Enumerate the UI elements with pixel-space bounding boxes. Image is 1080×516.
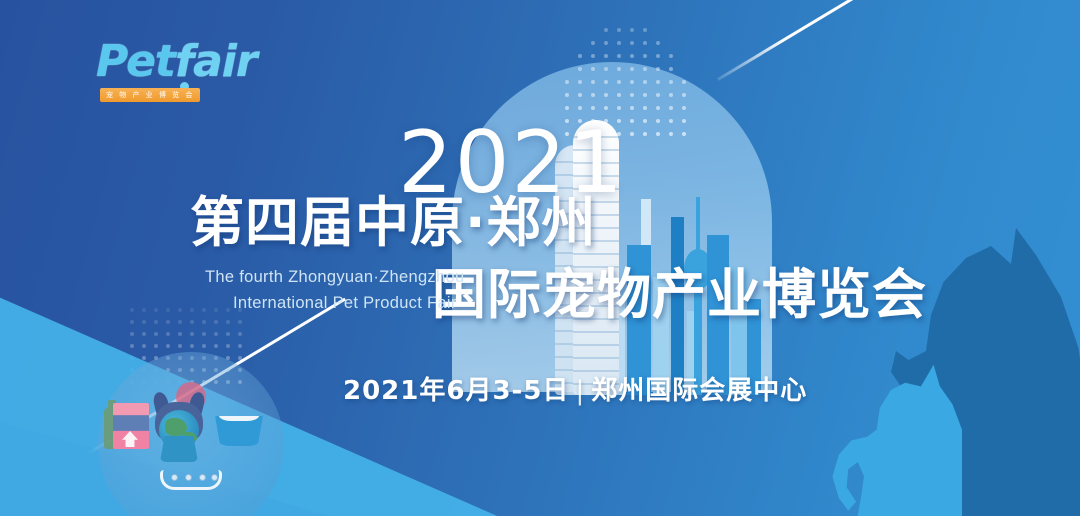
logo-word-fair: fair [175,36,257,87]
pet-collar-icon [160,470,222,490]
logo-word-pet: Pet [96,36,175,87]
logo-badge: 宠 物 产 业 博 览 会 [100,88,200,102]
event-venue: 郑州国际会展中心 [591,376,807,406]
pet-food-box-icon [113,403,149,449]
title-cn-line1: 第四届中原·郑州 [190,196,597,250]
separator: | [569,376,591,406]
pet-food-bowl-icon [213,416,265,446]
title-cn-line2: 国际宠物产业博览会 [432,268,927,322]
logo-wordmark: Petfair [96,36,257,87]
pet-globe-face-icon [148,392,210,460]
subtitle-en-line2: International Pet Product Fair [205,290,464,316]
pet-fair-logo[interactable]: Petfair 宠 物 产 业 博 览 会 [96,36,271,108]
event-date: 2021年6月3-5日 [343,376,569,406]
date-venue-line: 2021年6月3-5日|郑州国际会展中心 [343,370,807,407]
event-banner: Petfair 宠 物 产 业 博 览 会 2021 第四届中原·郑州 国际宠物… [0,0,1080,516]
diagonal-line-upper [717,0,864,81]
subtitle-en: The fourth Zhongyuan·Zhengzhou Internati… [205,264,464,316]
subtitle-en-line1: The fourth Zhongyuan·Zhengzhou [205,268,464,286]
